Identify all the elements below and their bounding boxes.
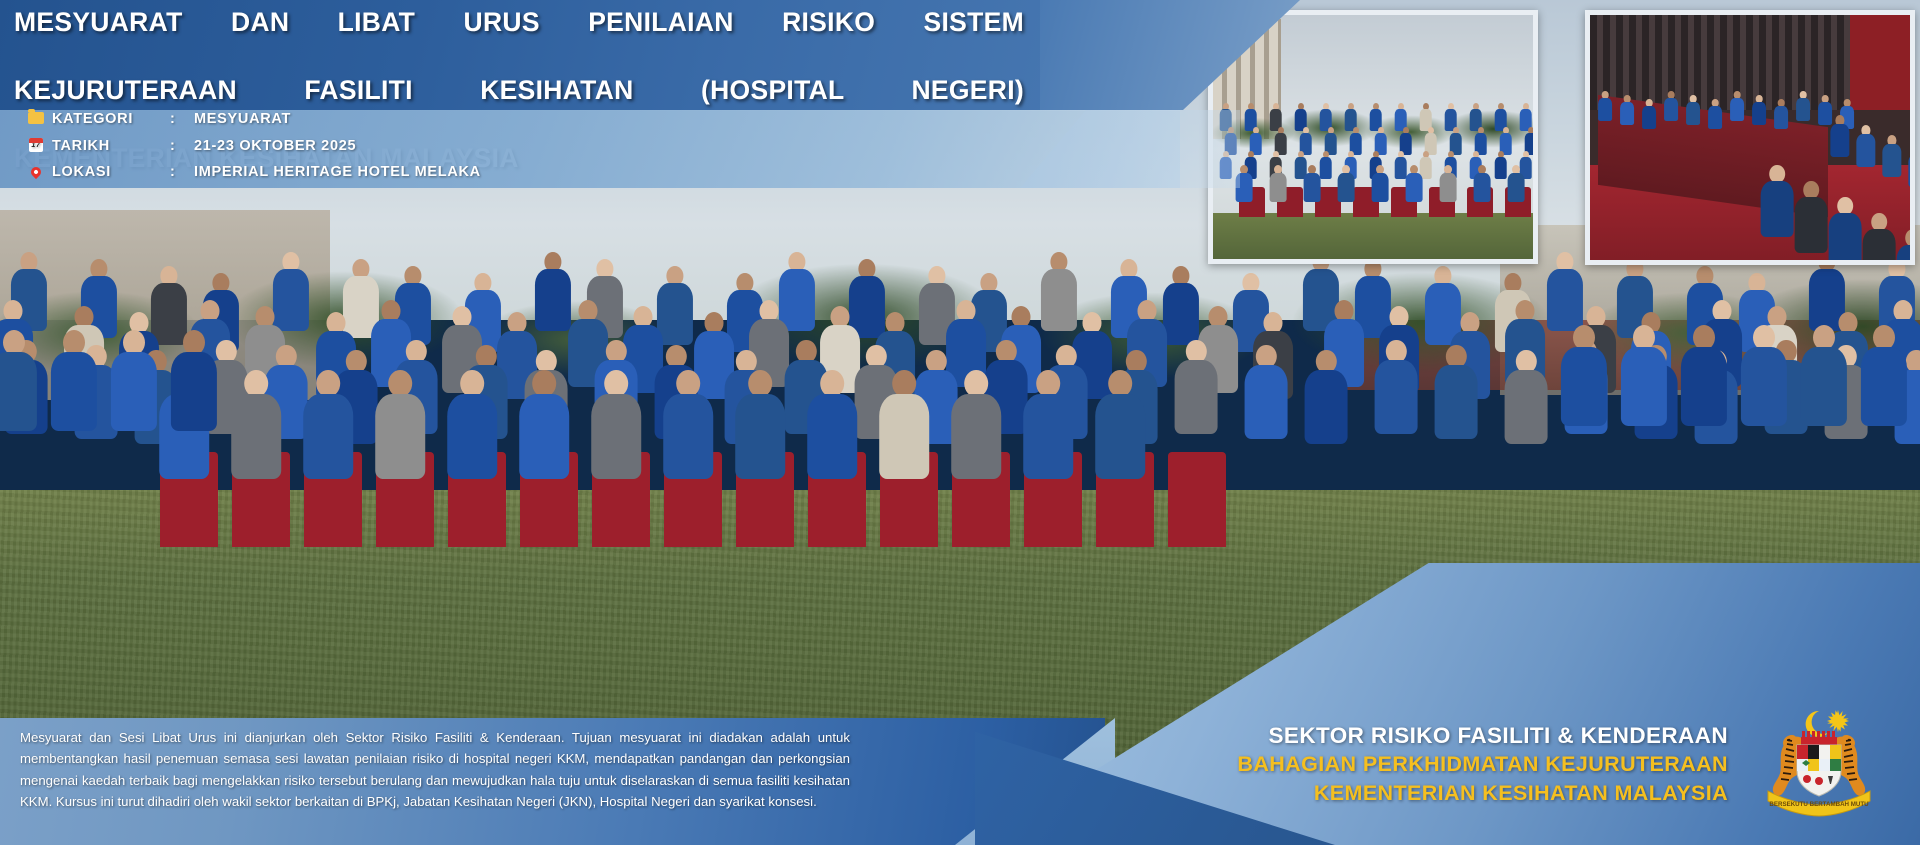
meeting-room-thumbnail-image	[1590, 15, 1910, 260]
crowd-person	[1794, 181, 1828, 256]
calendar-icon: 17	[26, 138, 46, 154]
crowd-person	[1862, 213, 1896, 260]
crowd-person	[1337, 165, 1355, 203]
branding-text: SEKTOR RISIKO FASILITI & KENDERAAN BAHAG…	[1237, 721, 1728, 807]
crowd-person	[1319, 151, 1332, 180]
person-body	[51, 352, 97, 431]
person-body	[1863, 229, 1896, 260]
crown-keris-row	[1801, 731, 1837, 746]
crowd-person	[1860, 325, 1908, 431]
crowd-person	[1620, 95, 1635, 127]
person-body	[1245, 365, 1288, 438]
person-body	[1175, 360, 1218, 433]
crowd-person	[230, 370, 282, 483]
crowd-person	[1374, 340, 1419, 438]
crowd-person	[1856, 125, 1876, 169]
meta-value-lokasi: IMPERIAL HERITAGE HOTEL MELAKA	[194, 164, 481, 180]
crowd-person	[806, 370, 858, 483]
person-body	[879, 394, 929, 479]
malaysia-coat-of-arms-icon: BERSEKUTU BERTAMBAH MUTU	[1756, 705, 1882, 823]
person-body	[1375, 360, 1418, 433]
person-body	[1642, 106, 1656, 130]
person-body	[1303, 173, 1320, 202]
person-body	[1163, 283, 1199, 345]
crowd-person	[0, 330, 38, 436]
meta-value-tarikh: 21-23 OKTOBER 2025	[194, 138, 356, 154]
person-body	[535, 269, 571, 331]
person-body	[447, 394, 497, 479]
person-body	[1795, 197, 1828, 253]
person-body	[1796, 98, 1810, 122]
crowd-person	[1439, 165, 1457, 203]
crowd-person	[1882, 135, 1902, 179]
crowd-person	[1774, 99, 1789, 131]
crowd-person	[1405, 165, 1423, 203]
crowd-person	[1680, 325, 1728, 431]
person-body	[1439, 173, 1456, 202]
person-body	[1882, 144, 1901, 177]
person-body	[375, 394, 425, 479]
crowd-person	[1686, 95, 1701, 127]
thumb1-grass	[1213, 213, 1533, 259]
header-band: MESYUARAT DAN LIBAT URUS PENILAIAN RISIK…	[0, 0, 1180, 110]
person-body	[1305, 370, 1348, 443]
crowd-person	[734, 370, 786, 483]
branding-line-bahagian: BAHAGIAN PERKHIDMATAN KEJURUTERAAN	[1237, 750, 1728, 778]
meta-label-kategori: KATEGORI	[52, 111, 170, 127]
person-body	[1505, 370, 1548, 443]
group-photo-thumbnail[interactable]	[1208, 10, 1538, 264]
person-body	[1473, 173, 1490, 202]
meta-row-lokasi: LOKASI : IMPERIAL HERITAGE HOTEL MELAKA	[26, 164, 481, 180]
crowd-person	[1642, 99, 1657, 131]
crowd-person	[1560, 325, 1608, 431]
crowd-person	[1730, 91, 1745, 123]
meta-colon-lokasi: :	[170, 164, 194, 180]
description-text: Mesyuarat dan Sesi Libat Urus ini dianju…	[20, 727, 850, 813]
meta-colon-tarikh: :	[170, 138, 194, 154]
crowd-person	[1664, 91, 1679, 123]
person-body	[1507, 173, 1524, 202]
person-body	[0, 352, 37, 431]
crowd-person	[1752, 95, 1767, 127]
person-body	[1897, 245, 1910, 260]
person-body	[1708, 106, 1722, 130]
person-body	[807, 394, 857, 479]
crowd-person	[1094, 370, 1146, 483]
branding-panel: SEKTOR RISIKO FASILITI & KENDERAAN BAHAG…	[975, 563, 1920, 845]
person-body	[1664, 98, 1678, 122]
person-body	[1319, 157, 1332, 179]
crowd-person	[1760, 165, 1794, 240]
crowd-person	[1269, 165, 1287, 203]
person-body	[171, 352, 217, 431]
crowd-person	[1371, 165, 1389, 203]
page-title-line-1: MESYUARAT DAN LIBAT URUS PENILAIAN RISIK…	[14, 6, 1024, 74]
person-body	[1023, 394, 1073, 479]
person-body	[663, 394, 713, 479]
meta-label-lokasi: LOKASI	[52, 164, 170, 180]
meta-row-kategori: KATEGORI : MESYUARAT	[26, 111, 291, 127]
person-body	[303, 394, 353, 479]
person-body	[1620, 102, 1634, 126]
thumb2-red-wall	[1850, 15, 1910, 110]
branding-line-kementerian: KEMENTERIAN KESIHATAN MALAYSIA	[1237, 779, 1728, 807]
person-body	[1856, 134, 1875, 167]
crowd-person	[1620, 325, 1668, 431]
person-body	[1435, 365, 1478, 438]
crowd-person	[1494, 151, 1507, 180]
person-body	[735, 394, 785, 479]
person-body	[1621, 347, 1667, 426]
person-body	[1598, 98, 1612, 122]
crowd-person	[1022, 370, 1074, 483]
person-body	[1908, 154, 1910, 187]
crowd-person	[950, 370, 1002, 483]
person-body	[1095, 394, 1145, 479]
group-photo-thumbnail-image	[1213, 15, 1533, 259]
crowd-person	[374, 370, 426, 483]
person-body	[231, 394, 281, 479]
crowd-person	[1896, 229, 1910, 260]
motto-text: BERSEKUTU BERTAMBAH MUTU	[1769, 801, 1869, 808]
crowd-person	[1507, 165, 1525, 203]
person-body	[1861, 347, 1907, 426]
meta-row-tarikh: 17 TARIKH : 21-23 OKTOBER 2025	[26, 138, 356, 154]
crowd-person	[110, 330, 158, 436]
meta-label-tarikh: TARIKH	[52, 138, 170, 154]
person-body	[1681, 347, 1727, 426]
person-body	[1752, 102, 1766, 126]
crowd-person	[1598, 91, 1613, 123]
photo-chair	[1168, 452, 1226, 547]
crowd-person	[1504, 350, 1549, 448]
folder-icon	[26, 112, 46, 126]
crowd-person	[590, 370, 642, 483]
person-body	[1774, 106, 1788, 130]
crowd-person	[1244, 345, 1289, 443]
meta-colon-kategori: :	[170, 111, 194, 127]
crowd-person	[1908, 145, 1910, 189]
person-body	[1269, 173, 1286, 202]
crowd-person	[878, 370, 930, 483]
person-body	[1829, 213, 1862, 260]
crowd-person	[1828, 197, 1862, 260]
meeting-room-photo-thumbnail[interactable]	[1585, 10, 1915, 265]
person-body	[951, 394, 1001, 479]
crowd-person	[518, 370, 570, 483]
crowd-person	[1800, 325, 1848, 431]
person-body	[1561, 347, 1607, 426]
meta-value-kategori: MESYUARAT	[194, 111, 291, 127]
person-body	[519, 394, 569, 479]
person-body	[1830, 124, 1849, 157]
event-poster: MESYUARAT DAN LIBAT URUS PENILAIAN RISIK…	[0, 0, 1920, 845]
person-body	[591, 394, 641, 479]
person-body	[1371, 173, 1388, 202]
crowd-person	[1174, 340, 1219, 438]
crowd-person	[170, 330, 218, 436]
person-body	[1801, 347, 1847, 426]
person-body	[1761, 181, 1794, 237]
crowd-person	[662, 370, 714, 483]
crowd-person	[1708, 99, 1723, 131]
crowd-person	[1830, 115, 1850, 159]
branding-line-sektor: SEKTOR RISIKO FASILITI & KENDERAAN	[1237, 721, 1728, 751]
person-body	[1686, 102, 1700, 126]
crowd-person	[1740, 325, 1788, 431]
crowd-person	[1434, 345, 1479, 443]
person-body	[1730, 98, 1744, 122]
description-panel: Mesyuarat dan Sesi Libat Urus ini dianju…	[0, 718, 1105, 845]
crowd-person	[446, 370, 498, 483]
crowd-person	[1796, 91, 1811, 123]
person-body	[1741, 347, 1787, 426]
crowd-person	[1304, 350, 1349, 448]
crowd-person	[302, 370, 354, 483]
crowd-person	[1303, 165, 1321, 203]
person-body	[1405, 173, 1422, 202]
location-pin-icon	[26, 165, 46, 179]
crowd-person	[50, 330, 98, 436]
person-body	[1494, 157, 1507, 179]
crowd-person	[1473, 165, 1491, 203]
person-body	[1337, 173, 1354, 202]
person-body	[111, 352, 157, 431]
